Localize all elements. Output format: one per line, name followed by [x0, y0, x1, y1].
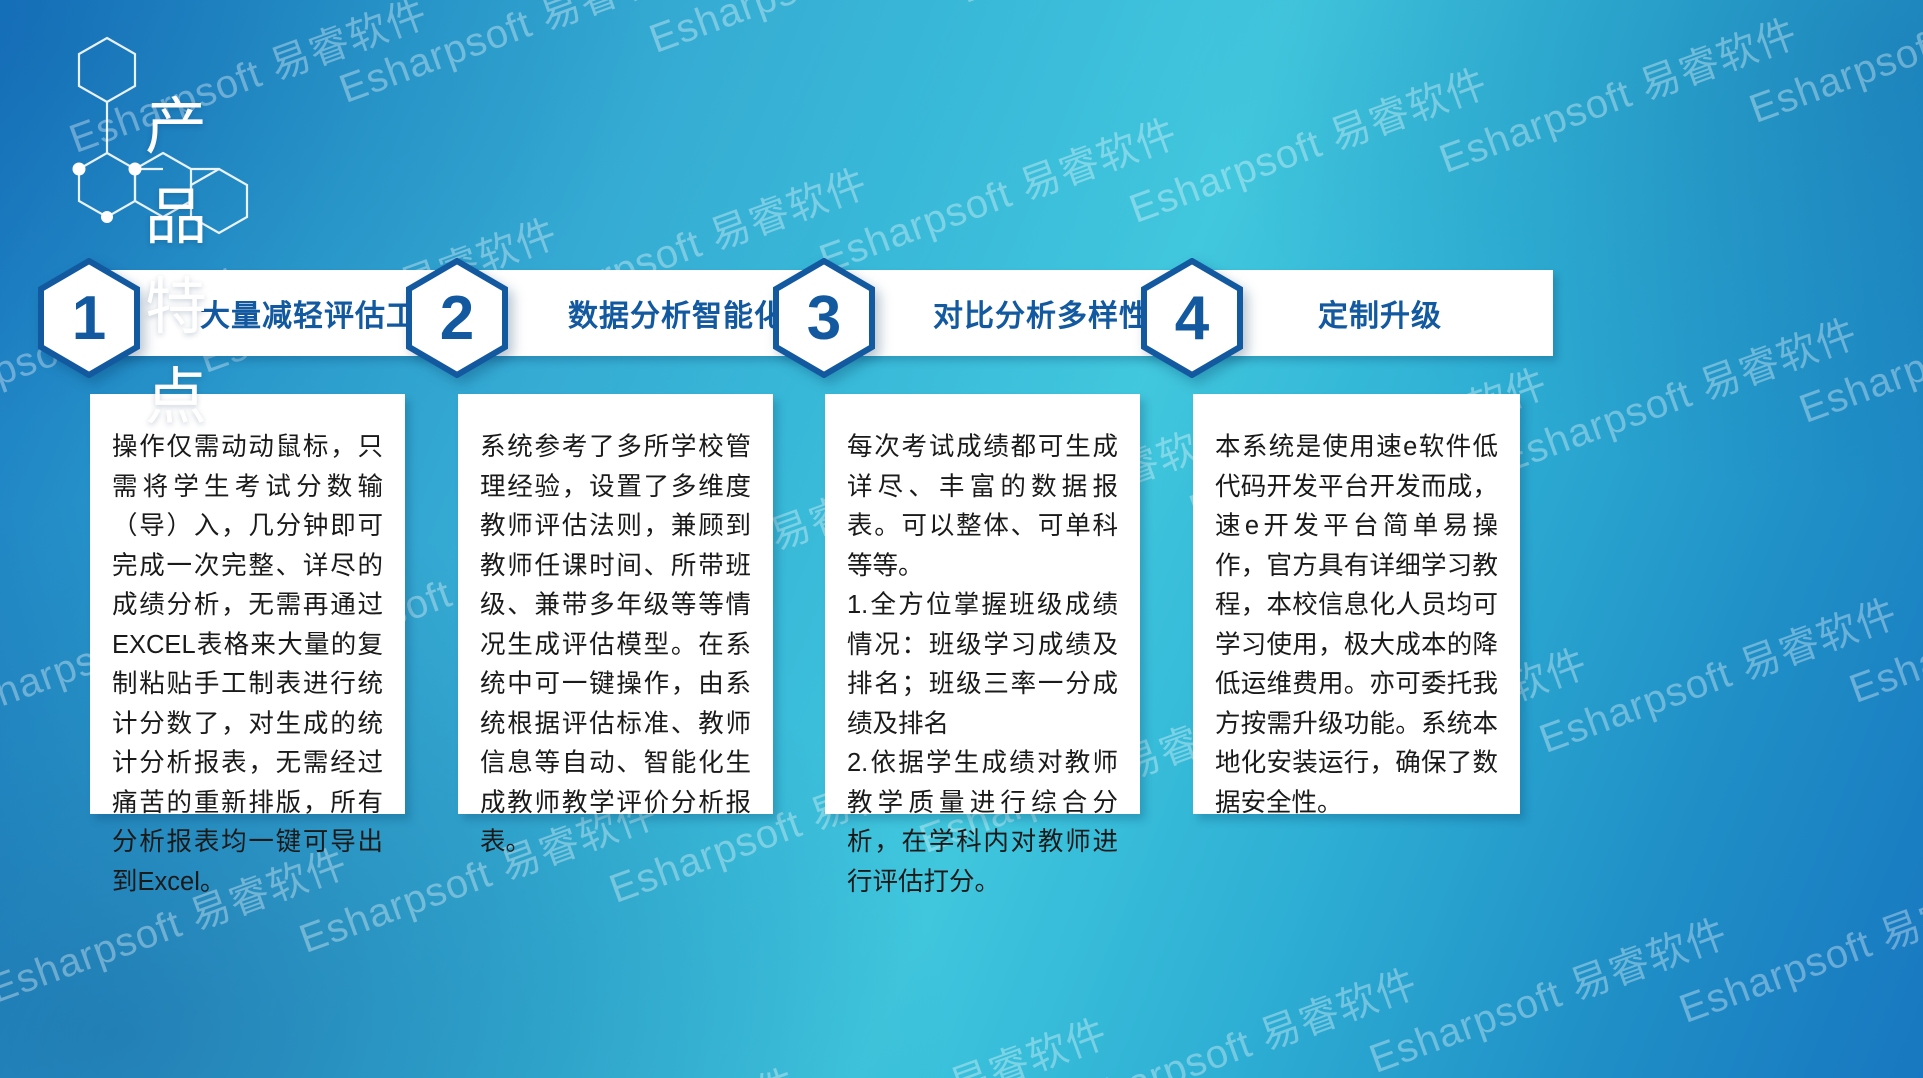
slide-canvas: 产品特点 大量减轻评估工作 1 操作仅需动动鼠标，只需将学生考试分数输（导）入，… [0, 0, 1923, 1078]
card-2-body-text: 系统参考了多所学校管理经验，设置了多维度教师评估法则，兼顾到教师任课时间、所带班… [480, 428, 751, 863]
card-4-header: 定制升级 [1193, 270, 1553, 356]
card-2-title: 数据分析智能化 [568, 291, 785, 335]
hexagon-molecule-icon [55, 28, 375, 238]
hexagon-badge-4 [1138, 258, 1246, 378]
page-title: 产品特点 [145, 76, 213, 436]
card-3-header: 对比分析多样性 [825, 270, 1180, 356]
hexagon-badge-3 [770, 258, 878, 378]
card-1-body: 操作仅需动动鼠标，只需将学生考试分数输（导）入，几分钟即可完成一次完整、详尽的成… [90, 394, 405, 814]
card-3-body: 每次考试成绩都可生成详尽、丰富的数据报表。可以整体、可单科等等。1.全方位掌握班… [825, 394, 1140, 814]
card-4-body-text: 本系统是使用速e软件低代码开发平台开发而成，速e开发平台简单易操作，官方具有详细… [1215, 428, 1498, 823]
card-4-body: 本系统是使用速e软件低代码开发平台开发而成，速e开发平台简单易操作，官方具有详细… [1193, 394, 1520, 814]
card-3-title: 对比分析多样性 [933, 291, 1150, 335]
card-2-body: 系统参考了多所学校管理经验，设置了多维度教师评估法则，兼顾到教师任课时间、所带班… [458, 394, 773, 814]
hexagon-badge-2 [403, 258, 511, 378]
card-4-title: 定制升级 [1318, 291, 1442, 335]
card-3-body-text: 每次考试成绩都可生成详尽、丰富的数据报表。可以整体、可单科等等。1.全方位掌握班… [847, 428, 1118, 902]
card-1-body-text: 操作仅需动动鼠标，只需将学生考试分数输（导）入，几分钟即可完成一次完整、详尽的成… [112, 428, 383, 902]
hexagon-badge-1 [35, 258, 143, 378]
